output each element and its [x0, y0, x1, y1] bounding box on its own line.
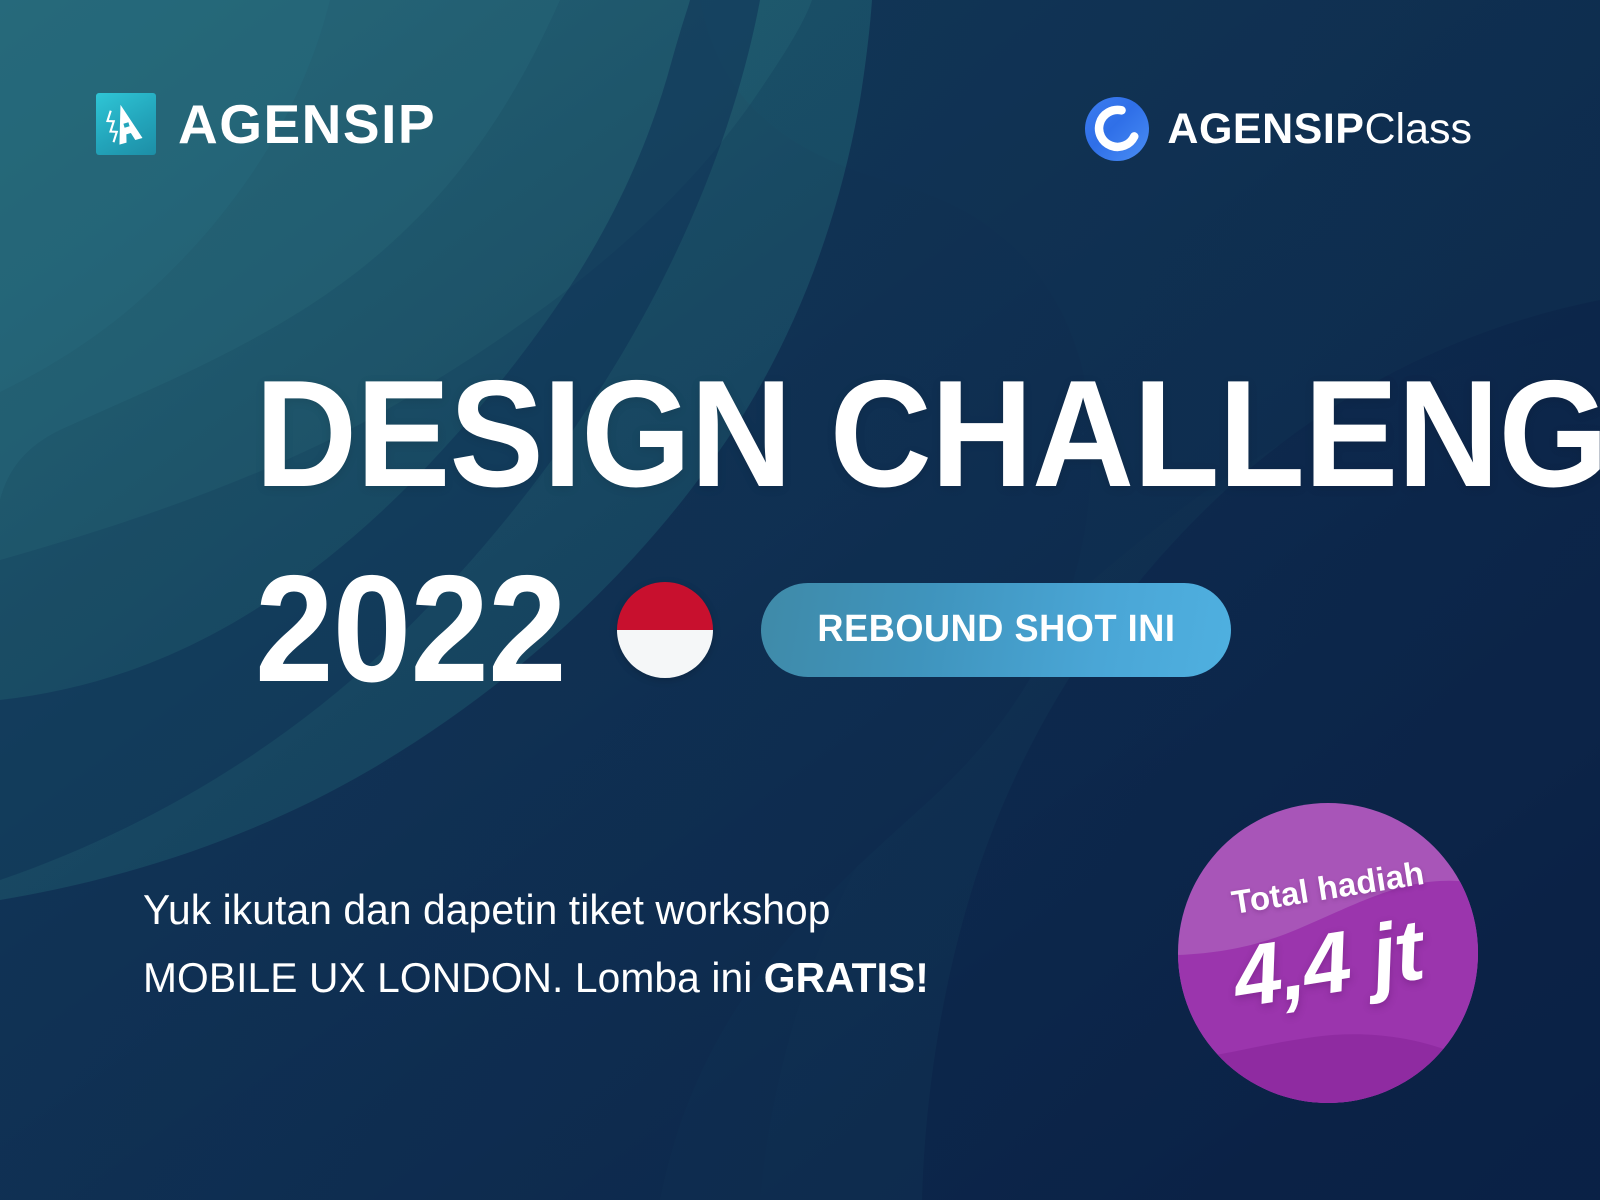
prize-badge: Total hadiah 4,4 jt [1178, 803, 1478, 1103]
rebound-shot-badge-label: REBOUND SHOT INI [817, 608, 1175, 651]
brand-logo-agensip[interactable]: AGENSIP [96, 93, 436, 155]
hero-year-row: 2022 REBOUND SHOT INI [255, 560, 1231, 700]
rebound-shot-badge[interactable]: REBOUND SHOT INI [761, 583, 1231, 677]
brand-name-suffix: Class [1364, 105, 1472, 153]
description-text: Yuk ikutan dan dapetin tiket workshop MO… [143, 876, 929, 1012]
brand-name-agensip: AGENSIP [178, 97, 436, 152]
description-line-2-prefix: MOBILE UX LONDON. Lomba ini [143, 954, 764, 1001]
brand-name-agensip-class: AGENSIPClass [1167, 108, 1472, 151]
indonesia-flag-icon [617, 582, 713, 678]
description-line-2: MOBILE UX LONDON. Lomba ini GRATIS! [143, 944, 929, 1012]
brand-name-main: AGENSIP [1167, 105, 1364, 153]
description-gratis-highlight: GRATIS! [764, 954, 929, 1001]
brand-logo-agensip-class[interactable]: AGENSIPClass [1085, 97, 1472, 161]
flag-stripe-red [617, 582, 713, 630]
page-title: DESIGN CHALLENGE [255, 368, 1600, 502]
description-line-1: Yuk ikutan dan dapetin tiket workshop [143, 876, 929, 944]
hero-year: 2022 [255, 560, 566, 700]
promo-poster: AGENSIP AGENSIPClass DESIGN CHALLENGE [0, 0, 1600, 1200]
flag-stripe-white [617, 630, 713, 678]
agensip-class-c-mark-icon [1085, 97, 1149, 161]
agensip-a-mark-icon [96, 93, 156, 155]
